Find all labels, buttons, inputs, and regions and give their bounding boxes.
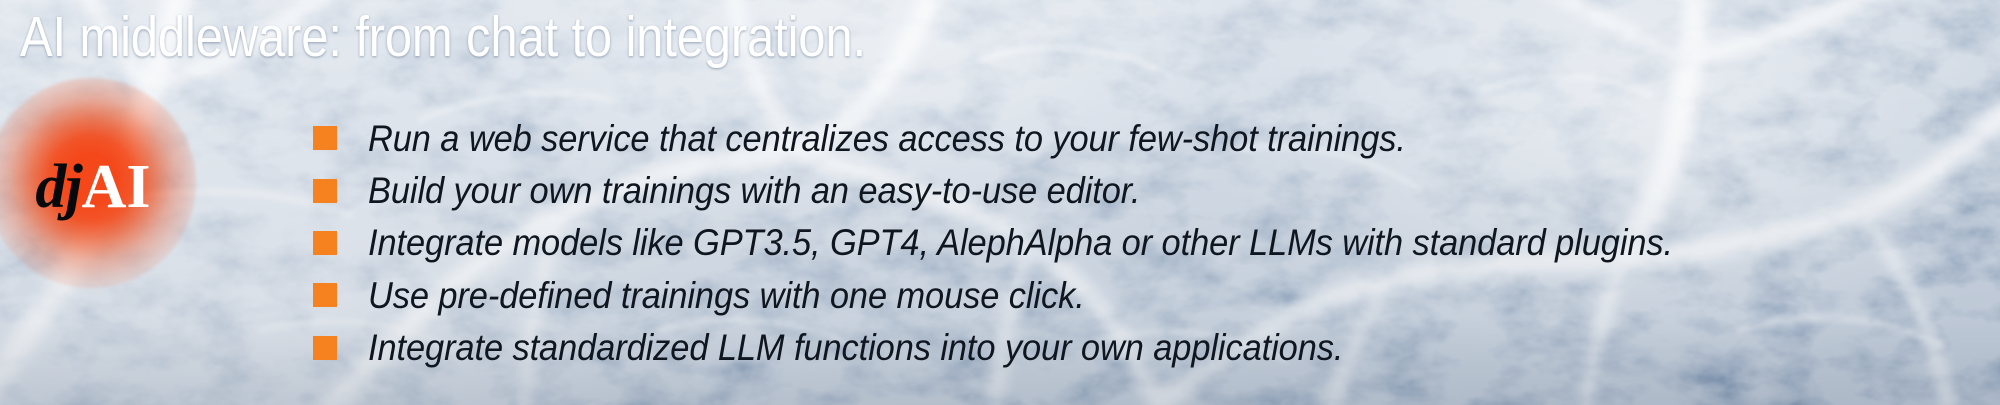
feature-list: Run a web service that centralizes acces… [313, 112, 1771, 374]
list-item-label: Use pre-defined trainings with one mouse… [368, 277, 1085, 314]
square-bullet-icon [313, 336, 337, 360]
list-item: Build your own trainings with an easy-to… [313, 164, 1771, 216]
list-item-label: Integrate standardized LLM functions int… [368, 329, 1343, 366]
promo-banner: AI middleware: from chat to integration.… [0, 0, 2000, 405]
square-bullet-icon [313, 126, 337, 150]
square-bullet-icon [313, 179, 337, 203]
list-item-label: Build your own trainings with an easy-to… [368, 172, 1140, 209]
square-bullet-icon [313, 231, 337, 255]
list-item: Integrate models like GPT3.5, GPT4, Alep… [313, 217, 1771, 269]
list-item: Use pre-defined trainings with one mouse… [313, 269, 1771, 321]
list-item: Integrate standardized LLM functions int… [313, 322, 1771, 374]
logo-ai-text: AI [82, 153, 151, 221]
djai-logo: djAI [0, 88, 182, 278]
list-item: Run a web service that centralizes acces… [313, 112, 1771, 164]
list-item-label: Integrate models like GPT3.5, GPT4, Alep… [368, 224, 1673, 261]
page-title: AI middleware: from chat to integration. [20, 8, 866, 68]
logo-wordmark: djAI [35, 156, 150, 218]
logo-dj-text: dj [35, 153, 81, 221]
square-bullet-icon [313, 283, 337, 307]
list-item-label: Run a web service that centralizes acces… [368, 120, 1406, 157]
